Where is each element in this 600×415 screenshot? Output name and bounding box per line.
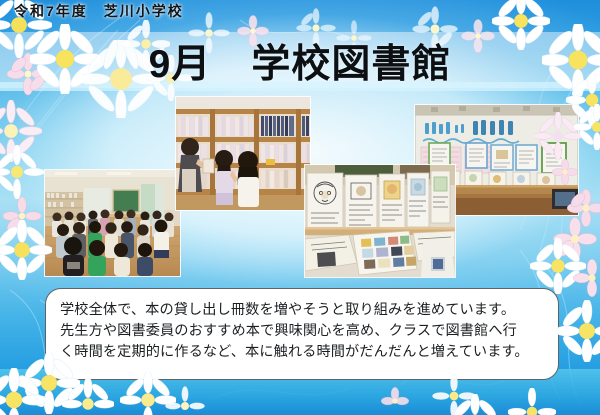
- photo-bookshelves: [176, 97, 310, 210]
- caption-line-1: 学校全体で、本の貸し出し冊数を増やそうと取り組みを進めています。: [60, 300, 546, 321]
- daisy-flower-icon: [0, 220, 52, 280]
- daisy-flower-icon: [508, 388, 556, 415]
- photo-recommendation-table: [305, 165, 455, 277]
- page-subtitle-school-year: 令和7年度 芝川小学校: [14, 1, 184, 21]
- daisy-flower-icon: [556, 300, 600, 362]
- photo-bookshelves-image: [176, 97, 310, 210]
- daisy-flower-icon: [448, 394, 502, 415]
- daisy-flower-icon: [165, 386, 205, 415]
- caption-line-2: 先生方や図書委員のおすすめ本で興味関心を高め、クラスで図書館へ行: [60, 321, 546, 342]
- daisy-flower-icon: [574, 104, 600, 150]
- pink-flower-icon: [551, 158, 579, 186]
- photo-recommendation-table-image: [305, 165, 455, 277]
- caption-box: 学校全体で、本の貸し出し冊数を増やそうと取り組みを進めています。 先生方や図書委…: [45, 288, 559, 380]
- caption-line-3: く時間を定期的に作るなど、本に触れる時間がだんだんと増えています。: [60, 342, 546, 363]
- page-title: 9月 学校図書館: [0, 33, 600, 89]
- photo-library-assembly-image: [45, 170, 180, 276]
- photo-library-assembly: [45, 170, 180, 276]
- page-title-text: 9月 学校図書館: [149, 33, 452, 89]
- pink-flower-icon: [572, 258, 600, 298]
- daisy-flower-icon: [62, 378, 114, 415]
- daisy-flower-icon: [0, 368, 46, 415]
- daisy-flower-icon: [0, 145, 44, 199]
- poster-page: 令和7年度 芝川小学校 9月 学校図書館: [0, 0, 600, 415]
- pink-flower-icon: [380, 386, 410, 415]
